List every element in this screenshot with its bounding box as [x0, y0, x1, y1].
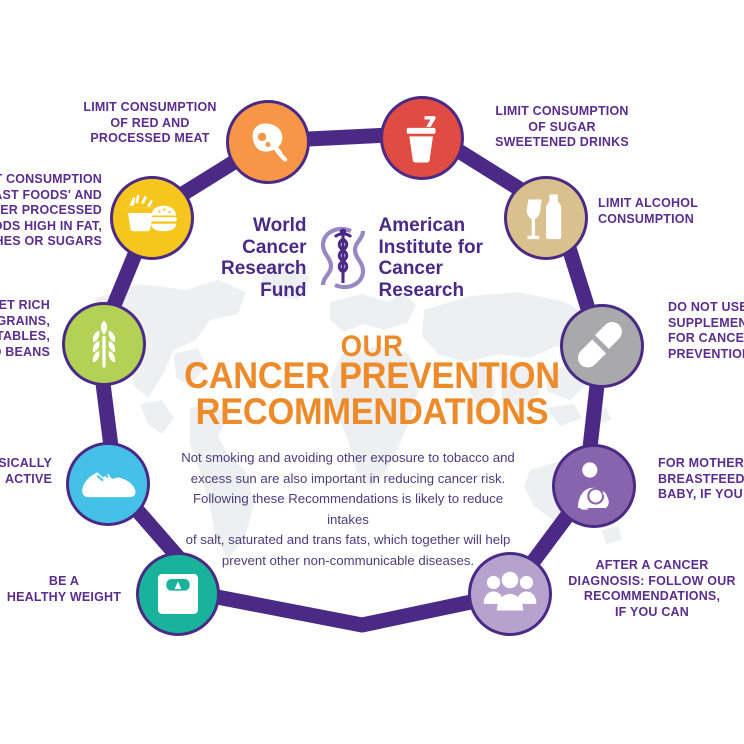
bathroom-scale-icon	[153, 569, 203, 619]
node-alcohol[interactable]	[504, 176, 588, 260]
title-line-2: RECOMMENDATIONS	[26, 394, 718, 430]
running-shoe-icon	[79, 462, 137, 506]
label-red-processed-meat: LIMIT CONSUMPTION OF RED AND PROCESSED M…	[60, 100, 240, 147]
label-fast-foods: LIMIT CONSUMPTION OF 'FAST FOODS' AND OT…	[0, 172, 102, 250]
ham-meat-icon	[241, 115, 295, 169]
label-alcohol: LIMIT ALCOHOL CONSUMPTION	[598, 196, 744, 227]
node-fast-foods[interactable]	[110, 176, 194, 260]
soft-drink-cup-icon	[397, 111, 447, 165]
wcrf-wordmark: World Cancer Research Fund	[221, 215, 307, 301]
logo-lockup: World Cancer Research Fund American Inst…	[222, 216, 482, 300]
body-paragraph: Not smoking and avoiding other exposure …	[172, 448, 524, 571]
title-line-1: CANCER PREVENTION	[26, 358, 718, 394]
wine-glass-bottle-icon	[520, 191, 572, 245]
node-sugar-sweetened-drinks[interactable]	[380, 96, 464, 180]
label-breastfeeding: FOR MOTHERS: BREASTFEED YOUR BABY, IF YO…	[658, 456, 744, 503]
aicr-wordmark: American Institute for Cancer Research	[379, 215, 484, 301]
label-sugar-sweetened-drinks: LIMIT CONSUMPTION OF SUGAR SWEETENED DRI…	[462, 104, 662, 151]
caduceus-ribbon-logo	[311, 221, 375, 295]
label-physical-activity: BE PHYSICALLY ACTIVE	[0, 456, 52, 487]
label-healthy-weight: BE A HEALTHY WEIGHT	[0, 574, 132, 605]
mother-baby-icon	[567, 459, 621, 513]
node-physical-activity[interactable]	[66, 442, 150, 526]
infographic-canvas: LIMIT CONSUMPTION OF RED AND PROCESSED M…	[0, 0, 744, 744]
burger-fries-icon	[123, 193, 181, 243]
label-after-diagnosis: AFTER A CANCER DIAGNOSIS: FOLLOW OUR REC…	[562, 558, 742, 620]
group-of-people-icon	[482, 570, 538, 618]
node-breastfeeding[interactable]	[552, 444, 636, 528]
page-title: CANCER PREVENTION RECOMMENDATIONS	[26, 358, 718, 430]
